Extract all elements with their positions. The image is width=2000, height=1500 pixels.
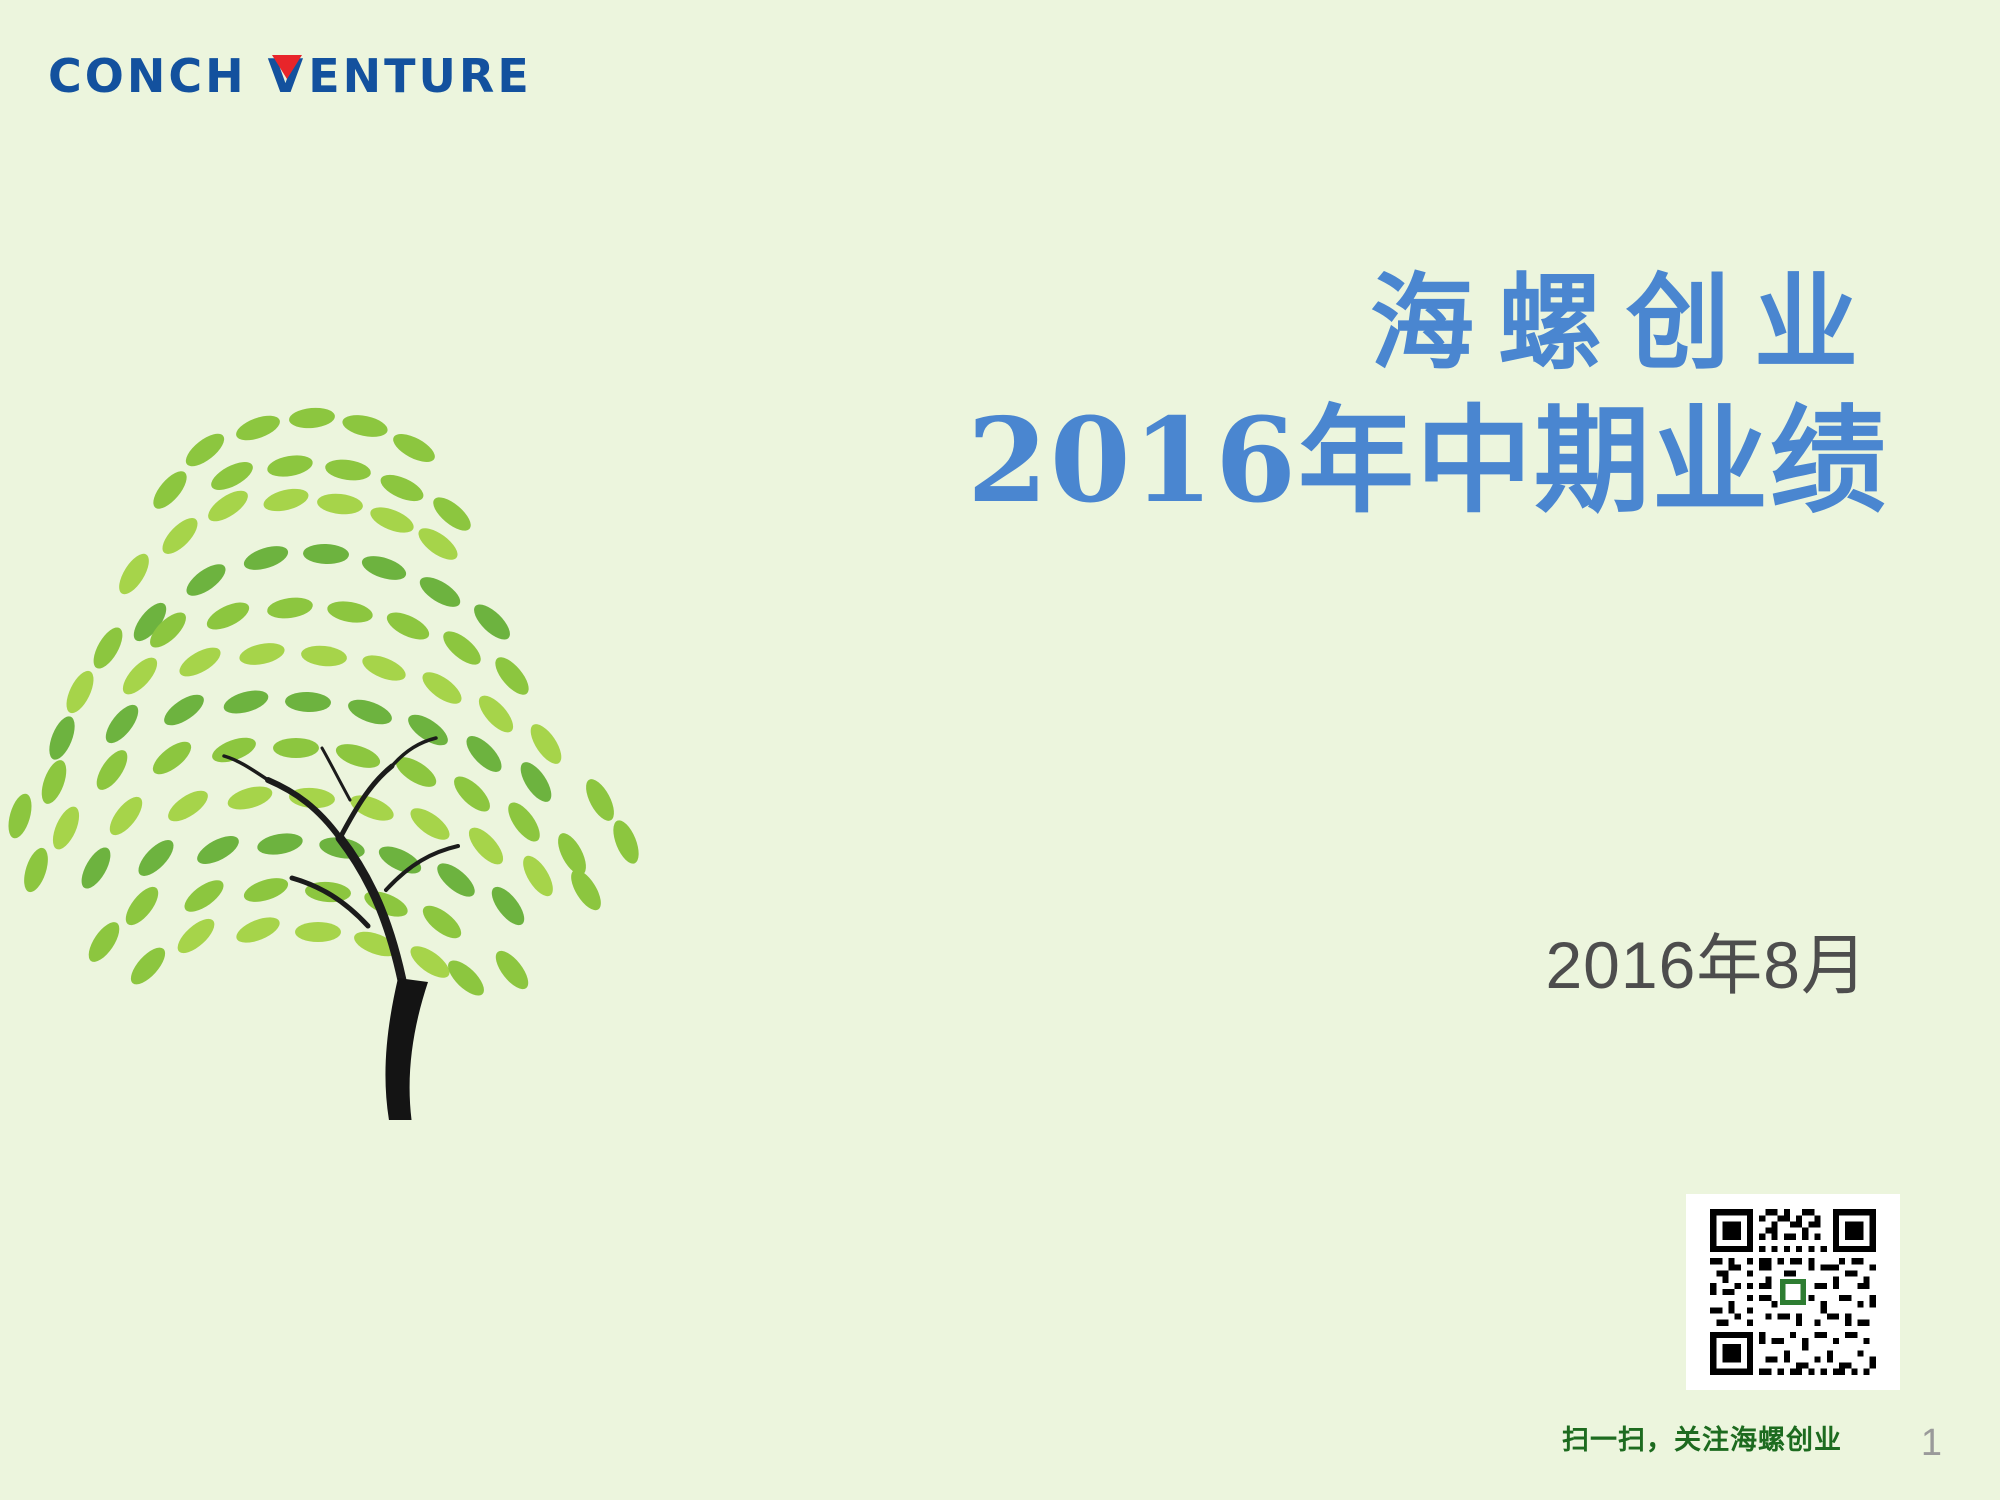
qr-caption: 扫一扫，关注海螺创业 [1562,1418,1842,1457]
page-number: 1 [1921,1424,1942,1462]
tree-canopy [4,406,644,1001]
slide-root: CONCH V ENTURE [0,0,2000,1500]
presentation-date: 2016年8月 [1545,912,1868,1008]
wechat-qr-code[interactable] [1686,1194,1900,1390]
page-title-secondary: 2016年中期业绩 [948,391,1888,533]
logo-space [247,53,266,99]
logo-v-with-triangle: V [266,53,309,99]
logo-word-conch: CONCH [48,53,247,99]
tree-trunk [385,978,444,1120]
green-tree-illustration [0,330,900,1120]
page-title-primary: 海螺创业 [948,262,1888,385]
logo-word-enture: ENTURE [308,53,532,99]
logo-word-v: V [268,49,307,103]
title-block: 海螺创业 2016年中期业绩 [948,262,1888,532]
company-logo: CONCH V ENTURE [48,48,532,104]
